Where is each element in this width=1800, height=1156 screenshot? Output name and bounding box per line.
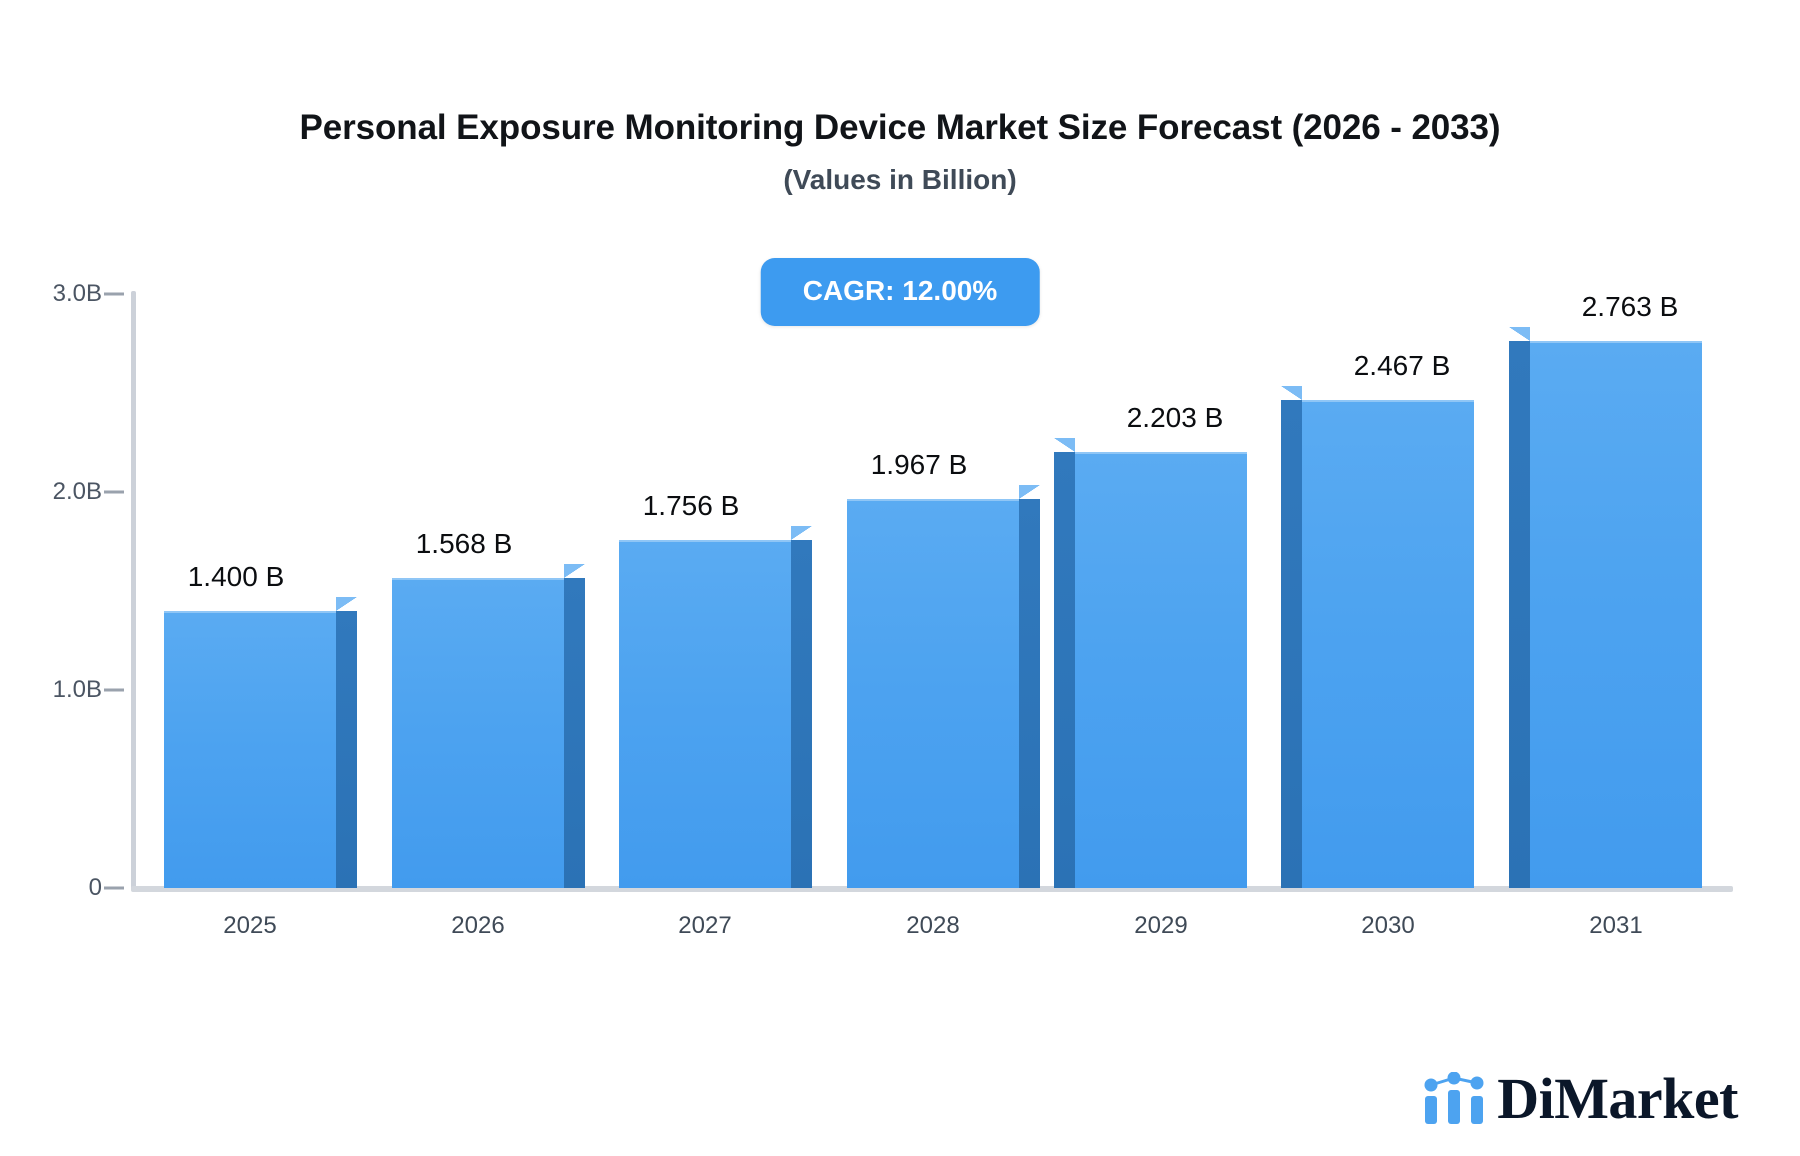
y-axis-tick-label: 1.0B <box>0 676 102 704</box>
bar-column[interactable]: 1.967 B <box>847 485 1019 888</box>
bar-column[interactable]: 2.203 B <box>1075 438 1247 888</box>
bar-value-label: 2.467 B <box>1316 350 1488 382</box>
y-axis-tick-mark <box>104 689 124 692</box>
y-axis-tick-label: 2.0B <box>0 478 102 506</box>
cagr-badge: CAGR: 12.00% <box>761 258 1040 326</box>
x-axis-tick-label: 2028 <box>847 912 1019 940</box>
x-axis-tick-label: 2025 <box>164 912 336 940</box>
bar-top-bevel <box>1019 485 1040 499</box>
bar-front-face <box>1075 452 1247 888</box>
bar-column[interactable]: 2.763 B <box>1530 327 1702 888</box>
chart-page: Personal Exposure Monitoring Device Mark… <box>0 0 1800 1156</box>
bar-top-bevel <box>564 564 585 578</box>
bar-chart-icon <box>1423 1072 1485 1126</box>
bar-top-bevel <box>336 597 357 611</box>
x-axis-tick-label: 2027 <box>619 912 791 940</box>
bar-value-label: 1.400 B <box>150 561 322 593</box>
plot-area: 01.0B2.0B3.0B 1.400 B20251.568 B20261.75… <box>0 0 1800 1156</box>
x-axis-tick-label: 2031 <box>1530 912 1702 940</box>
bar-value-label: 1.756 B <box>605 490 777 522</box>
y-axis-tick-label: 3.0B <box>0 280 102 308</box>
brand-logo: DiMarket <box>1423 1070 1738 1128</box>
bar-top-bevel <box>1509 327 1530 341</box>
bar-top-bevel <box>1281 386 1302 400</box>
bar-side-face <box>1509 341 1530 888</box>
bar-side-face <box>1054 452 1075 888</box>
bar-side-face <box>564 578 585 888</box>
bar-top-bevel <box>791 526 812 540</box>
bar-front-face <box>847 499 1019 888</box>
bar-side-face <box>1019 499 1040 888</box>
bar-front-face <box>1302 400 1474 888</box>
bar-side-face <box>336 611 357 888</box>
x-axis-tick-label: 2030 <box>1302 912 1474 940</box>
bar-column[interactable]: 1.400 B <box>164 597 336 888</box>
bar-front-face <box>1530 341 1702 888</box>
x-axis-tick-label: 2029 <box>1075 912 1247 940</box>
bar-value-label: 2.763 B <box>1544 291 1716 323</box>
bar-value-label: 1.568 B <box>378 528 550 560</box>
bar-column[interactable]: 1.756 B <box>619 526 791 888</box>
bar-side-face <box>791 540 812 888</box>
bar-top-bevel <box>1054 438 1075 452</box>
bar-column[interactable]: 2.467 B <box>1302 386 1474 888</box>
bar-value-label: 1.967 B <box>833 449 1005 481</box>
y-axis-tick-mark <box>104 293 124 296</box>
y-axis-tick-mark <box>104 887 124 890</box>
bar-column[interactable]: 1.568 B <box>392 564 564 888</box>
y-axis-line <box>131 291 136 890</box>
bar-front-face <box>619 540 791 888</box>
y-axis-tick-mark <box>104 491 124 494</box>
x-axis-tick-label: 2026 <box>392 912 564 940</box>
y-axis-tick-label: 0 <box>0 874 102 902</box>
bar-side-face <box>1281 400 1302 888</box>
logo-text: DiMarket <box>1497 1070 1738 1128</box>
bar-value-label: 2.203 B <box>1089 402 1261 434</box>
bar-front-face <box>164 611 336 888</box>
bar-front-face <box>392 578 564 888</box>
